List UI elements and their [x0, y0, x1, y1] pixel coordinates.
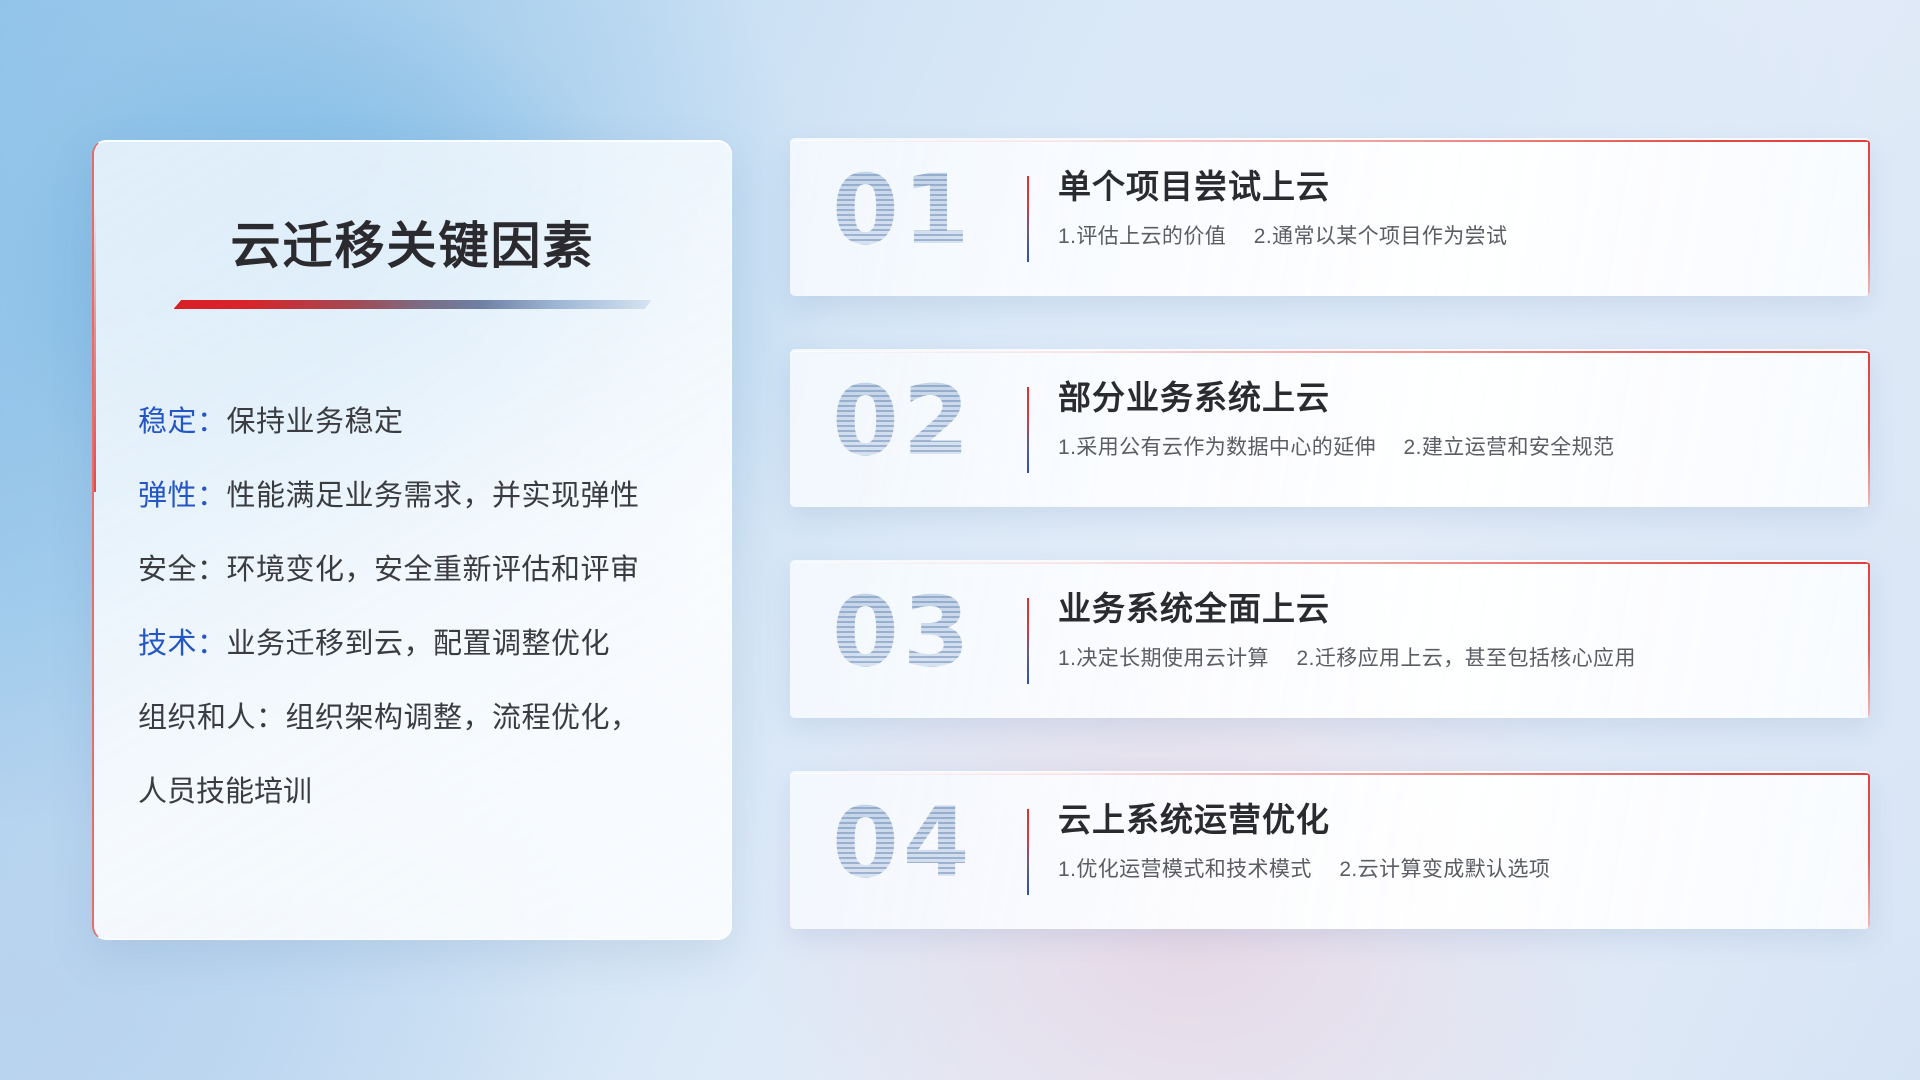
factor-value: 性能满足业务需求，并实现弹性 — [227, 480, 640, 512]
stage-card[interactable]: 03 业务系统全面上云 1.决定长期使用云计算 2.迁移应用上云，甚至包括核心应… — [790, 560, 1870, 718]
key-factors-panel: 云迁移关键因素 稳定：保持业务稳定 弹性：性能满足业务需求，并实现弹性 安全：环… — [92, 140, 732, 940]
page-title: 云迁移关键因素 — [94, 206, 731, 278]
list-item: 稳定：保持业务稳定 — [138, 385, 731, 459]
factor-value: 环境变化，安全重新评估和评审 — [227, 554, 640, 586]
card-title: 云上系统运营优化 — [1058, 797, 1830, 843]
slide-stage: 云迁移关键因素 稳定：保持业务稳定 弹性：性能满足业务需求，并实现弹性 安全：环… — [0, 0, 1920, 1080]
factor-continuation-line: 人员技能培训 — [138, 755, 731, 829]
card-description: 1.采用公有云作为数据中心的延伸 2.建立运营和安全规范 — [1058, 433, 1830, 463]
card-body: 云上系统运营优化 1.优化运营模式和技术模式 2.云计算变成默认选项 — [1058, 797, 1830, 885]
title-underline-accent — [174, 300, 652, 309]
stage-number-watermark: 04 — [832, 787, 974, 899]
factor-key: 稳定： — [138, 406, 227, 438]
card-divider-accent — [1027, 387, 1029, 473]
card-body: 部分业务系统上云 1.采用公有云作为数据中心的延伸 2.建立运营和安全规范 — [1058, 375, 1830, 463]
stage-card[interactable]: 02 部分业务系统上云 1.采用公有云作为数据中心的延伸 2.建立运营和安全规范 — [790, 349, 1870, 507]
factor-key: 安全： — [138, 554, 227, 586]
card-divider-accent — [1027, 598, 1029, 684]
factor-key: 技术： — [138, 628, 227, 660]
card-description: 1.优化运营模式和技术模式 2.云计算变成默认选项 — [1058, 855, 1830, 885]
card-title: 单个项目尝试上云 — [1058, 164, 1830, 210]
factor-key: 组织和人： — [138, 702, 286, 734]
card-description: 1.评估上云的价值 2.通常以某个项目作为尝试 — [1058, 222, 1830, 252]
list-item: 组织和人：组织架构调整，流程优化， — [138, 681, 731, 755]
factor-list: 稳定：保持业务稳定 弹性：性能满足业务需求，并实现弹性 安全：环境变化，安全重新… — [138, 385, 731, 829]
stage-card-list: 01 单个项目尝试上云 1.评估上云的价值 2.通常以某个项目作为尝试 02 部… — [790, 138, 1870, 982]
factor-value: 保持业务稳定 — [227, 406, 404, 438]
stage-card[interactable]: 01 单个项目尝试上云 1.评估上云的价值 2.通常以某个项目作为尝试 — [790, 138, 1870, 296]
card-title: 业务系统全面上云 — [1058, 586, 1830, 632]
factor-key: 弹性： — [138, 480, 227, 512]
card-description: 1.决定长期使用云计算 2.迁移应用上云，甚至包括核心应用 — [1058, 644, 1830, 674]
card-title: 部分业务系统上云 — [1058, 375, 1830, 421]
card-body: 单个项目尝试上云 1.评估上云的价值 2.通常以某个项目作为尝试 — [1058, 164, 1830, 252]
stage-number-watermark: 03 — [832, 576, 974, 688]
list-item: 安全：环境变化，安全重新评估和评审 — [138, 533, 731, 607]
factor-value: 业务迁移到云，配置调整优化 — [227, 628, 611, 660]
card-body: 业务系统全面上云 1.决定长期使用云计算 2.迁移应用上云，甚至包括核心应用 — [1058, 586, 1830, 674]
factor-value: 组织架构调整，流程优化， — [286, 702, 640, 734]
card-divider-accent — [1027, 809, 1029, 895]
stage-number-watermark: 01 — [832, 154, 974, 266]
stage-card[interactable]: 04 云上系统运营优化 1.优化运营模式和技术模式 2.云计算变成默认选项 — [790, 771, 1870, 929]
list-item: 弹性：性能满足业务需求，并实现弹性 — [138, 459, 731, 533]
card-divider-accent — [1027, 176, 1029, 262]
list-item: 技术：业务迁移到云，配置调整优化 — [138, 607, 731, 681]
stage-number-watermark: 02 — [832, 365, 974, 477]
